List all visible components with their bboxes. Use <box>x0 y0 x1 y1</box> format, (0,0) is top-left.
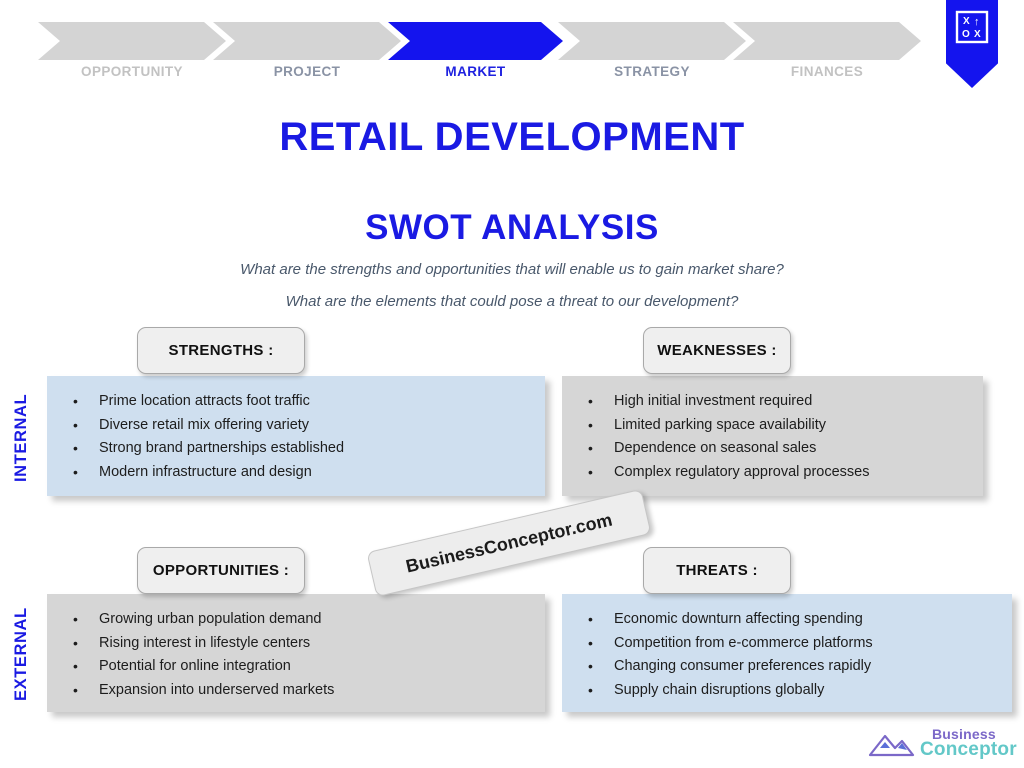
process-breadcrumb: OPPORTUNITY PROJECT MARKET STRATEGY FINA… <box>0 0 1024 100</box>
weaknesses-list: High initial investment required Limited… <box>580 390 965 484</box>
step-opportunity[interactable]: OPPORTUNITY <box>38 22 226 60</box>
step-label-strategy: STRATEGY <box>558 64 746 79</box>
brand-logo: Business Conceptor <box>864 722 1018 762</box>
list-item: Complex regulatory approval processes <box>580 461 965 485</box>
step-finances[interactable]: FINANCES <box>733 22 921 60</box>
watermark-badge: BusinessConceptor.com <box>366 489 651 597</box>
opportunities-list: Growing urban population demand Rising i… <box>65 608 527 702</box>
quadrant-title-opportunities: OPPORTUNITIES : <box>137 547 305 594</box>
quadrant-title-threats: THREATS : <box>643 547 791 594</box>
list-item: Modern infrastructure and design <box>65 461 527 485</box>
axis-label-external: EXTERNAL <box>12 598 31 710</box>
list-item: Economic downturn affecting spending <box>580 608 994 632</box>
chevron-shape-strategy <box>558 22 746 60</box>
axis-label-internal: INTERNAL <box>12 382 31 494</box>
guiding-question-1: What are the strengths and opportunities… <box>0 261 1024 278</box>
step-label-opportunity: OPPORTUNITY <box>38 64 226 79</box>
step-label-project: PROJECT <box>213 64 401 79</box>
quadrant-panel-strengths: Prime location attracts foot traffic Div… <box>47 376 545 496</box>
svg-text:O: O <box>962 29 970 40</box>
quadrant-panel-threats: Economic downturn affecting spending Com… <box>562 594 1012 712</box>
step-strategy[interactable]: STRATEGY <box>558 22 746 60</box>
svg-text:X: X <box>974 29 981 40</box>
chevron-shape-opportunity <box>38 22 226 60</box>
list-item: Diverse retail mix offering variety <box>65 414 527 438</box>
guiding-question-2: What are the elements that could pose a … <box>0 293 1024 310</box>
list-item: High initial investment required <box>580 390 965 414</box>
quadrant-panel-opportunities: Growing urban population demand Rising i… <box>47 594 545 712</box>
page-title: RETAIL DEVELOPMENT <box>0 115 1024 160</box>
strengths-list: Prime location attracts foot traffic Div… <box>65 390 527 484</box>
list-item: Expansion into underserved markets <box>65 679 527 703</box>
quadrant-title-strengths: STRENGTHS : <box>137 327 305 374</box>
list-item: Strong brand partnerships established <box>65 437 527 461</box>
list-item: Growing urban population demand <box>65 608 527 632</box>
logo-line-conceptor: Conceptor <box>920 739 1017 761</box>
list-item: Dependence on seasonal sales <box>580 437 965 461</box>
quadrant-panel-weaknesses: High initial investment required Limited… <box>562 376 983 496</box>
list-item: Potential for online integration <box>65 655 527 679</box>
threats-list: Economic downturn affecting spending Com… <box>580 608 994 702</box>
page-subtitle: SWOT ANALYSIS <box>0 208 1024 248</box>
chevron-shape-project <box>213 22 401 60</box>
quadrant-title-weaknesses: WEAKNESSES : <box>643 327 791 374</box>
step-label-market: MARKET <box>388 64 563 79</box>
chevron-shape-market <box>388 22 563 60</box>
list-item: Supply chain disruptions globally <box>580 679 994 703</box>
list-item: Rising interest in lifestyle centers <box>65 632 527 656</box>
step-label-finances: FINANCES <box>733 64 921 79</box>
list-item: Competition from e-commerce platforms <box>580 632 994 656</box>
step-project[interactable]: PROJECT <box>213 22 401 60</box>
strategy-playbook-icon: X ↑ O X <box>946 0 998 88</box>
list-item: Limited parking space availability <box>580 414 965 438</box>
svg-text:X: X <box>963 16 970 27</box>
svg-text:↑: ↑ <box>974 16 980 28</box>
step-market[interactable]: MARKET <box>388 22 563 60</box>
list-item: Prime location attracts foot traffic <box>65 390 527 414</box>
chevron-shape-finances <box>733 22 921 60</box>
list-item: Changing consumer preferences rapidly <box>580 655 994 679</box>
